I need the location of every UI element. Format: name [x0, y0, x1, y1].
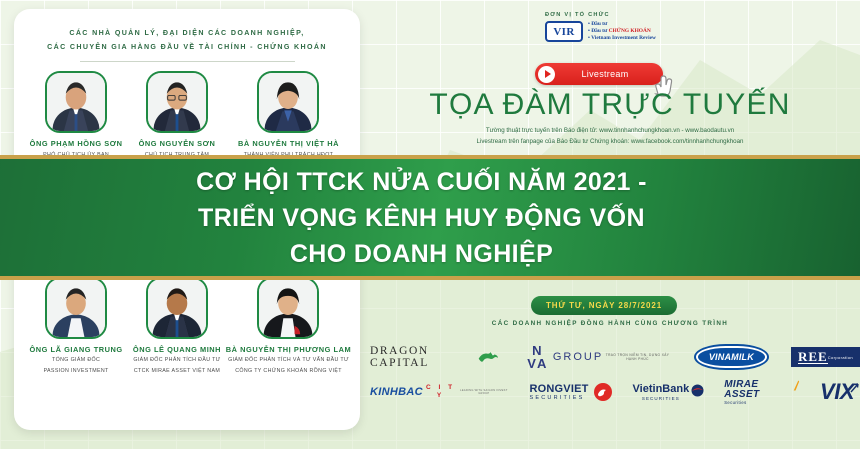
banner-line-2: TRIỂN VỌNG KÊNH HUY ĐỘNG VỐN: [196, 200, 647, 236]
speaker-item[interactable]: ÔNG LÊ QUANG MINH GIÁM ĐỐC PHÂN TÍCH ĐẦU…: [128, 277, 226, 376]
page-title: TỌA ĐÀM TRỰC TUYẾN: [360, 88, 860, 122]
nova-line-2: GROUP: [553, 351, 603, 363]
sponsor-row-1: DRAGON CAPITAL N VA GROUP TRAO TRỌN NIỀM…: [370, 338, 860, 376]
sponsor-row-2: KINHBAC C I T Y LEADING WITH SAIGON INVE…: [370, 375, 860, 409]
kinhbac-tagline: LEADING WITH SAIGON INVEST GROUP: [458, 389, 509, 395]
sponsor-logos: DRAGON CAPITAL N VA GROUP TRAO TRỌN NIỀM…: [370, 338, 860, 409]
speaker-item[interactable]: BÀ NGUYỄN THỊ PHƯƠNG LAM GIÁM ĐỐC PHÂN T…: [226, 277, 351, 376]
speaker-photo: [45, 71, 107, 133]
ree-text: REE: [798, 350, 828, 364]
sponsor-nova-group: N VA GROUP TRAO TRỌN NIỀM TIN, DỰNG XÂY …: [523, 344, 672, 370]
banner-line-1: CƠ HỘI TTCK NỬA CUỐI NĂM 2021 -: [196, 164, 647, 200]
kinhbac-city-text: C I T Y: [423, 384, 458, 400]
organizer-block: ĐƠN VỊ TỔ CHỨC VIR • Đầu tư • Đầu tư CHỨ…: [545, 12, 656, 42]
speaker-name: ÔNG NGUYỄN SƠN: [128, 139, 226, 148]
broadcast-line-2: Livestream trên fanpage của Báo Đầu tư C…: [360, 137, 860, 148]
speaker-name: ÔNG LÊ QUANG MINH: [128, 345, 226, 354]
nova-line-1: N VA: [523, 344, 553, 370]
organizer-label: ĐƠN VỊ TỔ CHỨC: [545, 12, 656, 18]
speaker-photo: [45, 277, 107, 339]
sponsor-ree: REE Corporation: [791, 347, 860, 367]
dragon-icon: [477, 347, 499, 367]
vinamilk-text: VINAMILK: [696, 346, 767, 368]
dragon-capital-text: DRAGON CAPITAL: [370, 345, 473, 369]
sponsor-vietinbank: VietinBank SECURITIES: [633, 384, 705, 401]
speaker-photo: [146, 71, 208, 133]
dragon-head-icon: [593, 382, 613, 402]
heading-line-1: CÁC NHÀ QUẢN LÝ, ĐẠI DIỆN CÁC DOANH NGHI…: [24, 26, 350, 40]
broadcast-line-1: Tường thuật trực tuyến trên Báo điện tử:…: [360, 126, 860, 137]
mirae-text: MIRAE ASSET: [724, 380, 790, 400]
speaker-role-2: CÔNG TY CHỨNG KHOÁN RỒNG VIỆT: [226, 367, 351, 375]
vietinbank-subtext: SECURITIES: [633, 396, 690, 401]
partners-label: CÁC DOANH NGHIỆP ĐỒNG HÀNH CÙNG CHƯƠNG T…: [360, 320, 860, 327]
speaker-role-1: TỔNG GIÁM ĐỐC: [24, 356, 128, 364]
banner-line-3: CHO DOANH NGHIỆP: [196, 236, 647, 272]
speaker-item[interactable]: ÔNG LÃ GIANG TRUNG TỔNG GIÁM ĐỐC PASSION…: [24, 277, 128, 376]
heading-line-2: CÁC CHUYÊN GIA HÀNG ĐẦU VỀ TÀI CHÍNH - C…: [24, 40, 350, 54]
sponsor-kinhbac-city: KINHBAC C I T Y LEADING WITH SAIGON INVE…: [370, 384, 509, 400]
sponsor-mirae-asset: MIRAE ASSET Securities: [724, 380, 800, 405]
speaker-name: BÀ NGUYỄN THỊ VIỆT HÀ: [226, 139, 351, 148]
nova-tagline: TRAO TRỌN NIỀM TIN, DỰNG XÂY HẠNH PHÚC: [603, 353, 672, 361]
mirae-slash-icon: [791, 380, 800, 392]
heading-divider: [80, 61, 295, 62]
speaker-photo: [257, 277, 319, 339]
ree-subtext: Corporation: [828, 355, 853, 360]
speaker-role-1: GIÁM ĐỐC PHÂN TÍCH VÀ TƯ VẤN ĐẦU TƯ: [226, 356, 351, 364]
speaker-card-heading: CÁC NHÀ QUẢN LÝ, ĐẠI DIỆN CÁC DOANH NGHI…: [24, 26, 350, 54]
play-icon: [538, 66, 555, 83]
vir-logo-text: VIR: [553, 26, 574, 38]
rongviet-text: RONGVIET: [529, 384, 588, 395]
livestream-label: Livestream: [555, 69, 663, 79]
kinhbac-text: KINHBAC: [370, 387, 423, 398]
speaker-name: ÔNG LÃ GIANG TRUNG: [24, 345, 128, 354]
sponsor-vinamilk: VINAMILK: [696, 346, 767, 368]
vir-logo-icon: VIR: [545, 21, 583, 42]
vix-arrow-icon: [850, 382, 860, 394]
vir-line-2: • Đầu tư CHỨNG KHOÁN: [588, 28, 656, 35]
main-banner: CƠ HỘI TTCK NỬA CUỐI NĂM 2021 - TRIỂN VỌ…: [0, 155, 860, 280]
livestream-button[interactable]: Livestream: [535, 63, 663, 85]
speaker-role-1: GIÁM ĐỐC PHÂN TÍCH ĐẦU TƯ: [128, 356, 226, 364]
sponsor-dragon-capital: DRAGON CAPITAL: [370, 345, 499, 369]
speaker-role-2: CTCK MIRAE ASSET VIỆT NAM: [128, 367, 226, 375]
speaker-role-2: PASSION INVESTMENT: [24, 367, 128, 375]
vietinbank-mark-icon: [691, 384, 704, 397]
vir-line-3: • Vietnam Investment Review: [588, 35, 656, 42]
speaker-name: ÔNG PHẠM HỒNG SƠN: [24, 139, 128, 148]
vir-line-1: • Đầu tư: [588, 21, 656, 28]
broadcast-info: Tường thuật trực tuyến trên Báo điện tử:…: [360, 126, 860, 147]
date-badge: THỨ TƯ, NGÀY 28/7/2021: [531, 296, 677, 315]
sponsor-rong-viet: RONGVIET SECURITIES: [529, 382, 612, 402]
sponsor-vix: VIX: [820, 379, 860, 405]
speaker-photo: [257, 71, 319, 133]
speaker-photo: [146, 277, 208, 339]
vix-text: VIX: [820, 379, 854, 405]
rongviet-subtext: SECURITIES: [529, 395, 588, 401]
speaker-name: BÀ NGUYỄN THỊ PHƯƠNG LAM: [226, 345, 351, 354]
mirae-subtext: Securities: [724, 400, 790, 405]
vietinbank-text: VietinBank: [633, 384, 690, 395]
